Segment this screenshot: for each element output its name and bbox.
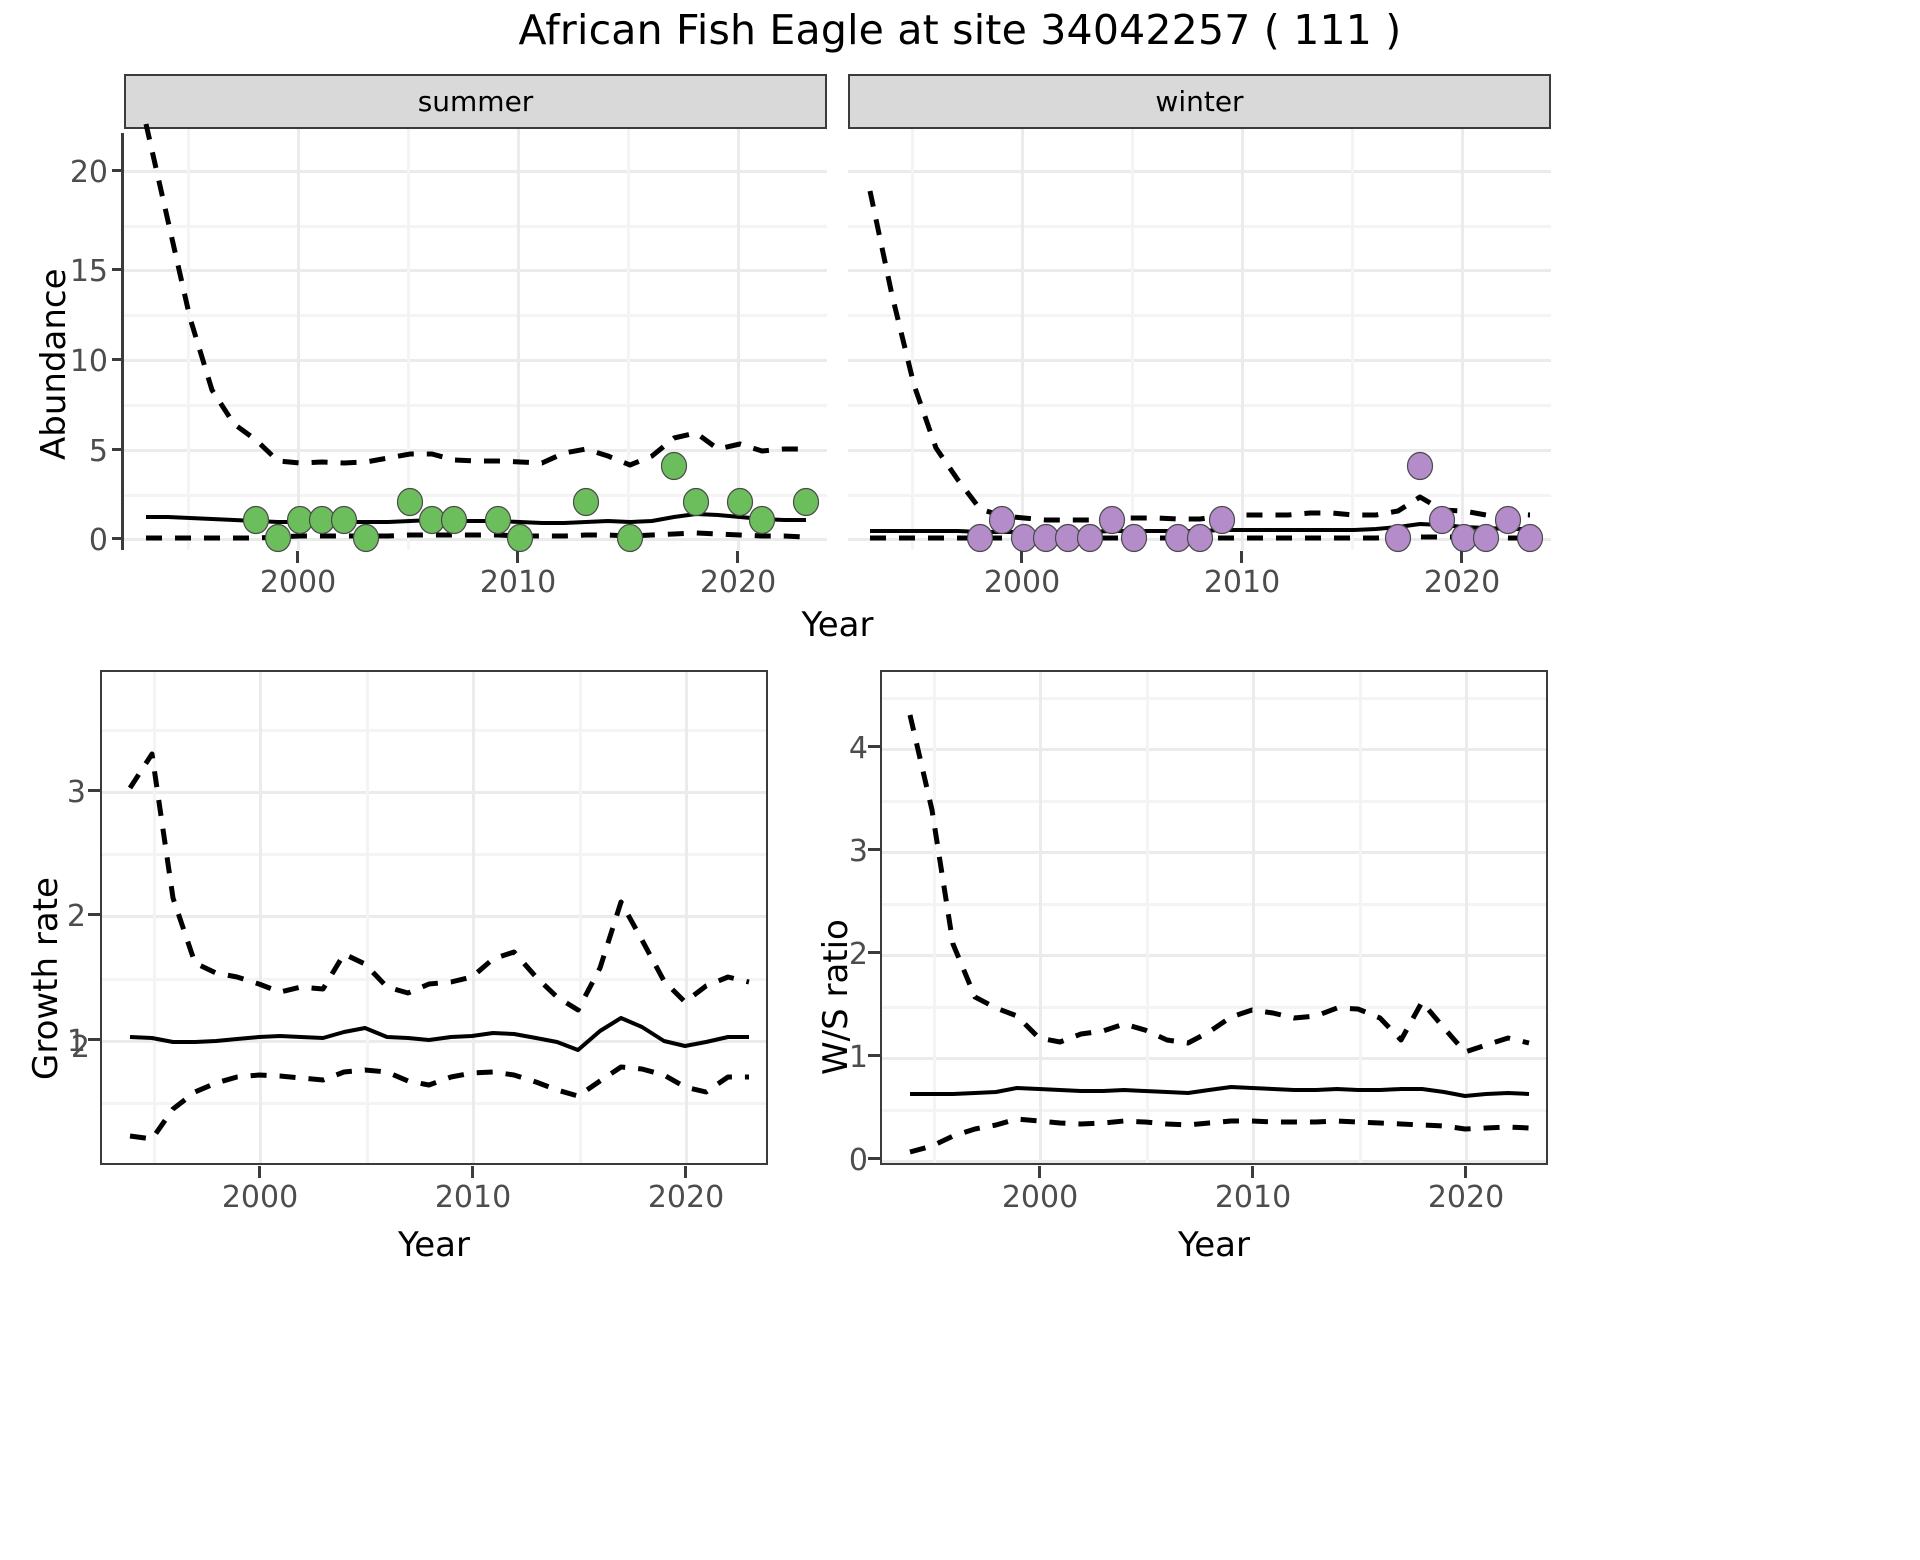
growth-rate-y-tickmark	[88, 1038, 100, 1041]
abundance-panel-winter	[848, 129, 1551, 550]
growth-rate-x-tickmark	[258, 1166, 261, 1178]
ws-ratio-y-tickmark	[868, 848, 880, 851]
abundance-x-tickmark	[1240, 551, 1243, 563]
growth-upper-ci	[130, 754, 749, 1010]
figure-title: African Fish Eagle at site 34042257 ( 11…	[0, 6, 1920, 54]
abundance-x-tick-2010-winter: 2010	[1180, 565, 1304, 600]
growth-rate-plot	[102, 672, 766, 1163]
growth-lower-ci	[130, 1067, 749, 1139]
abundance-y-tick-5: 5	[52, 434, 108, 469]
ratio-lower-ci	[910, 1119, 1529, 1152]
ws-ratio-y-tick-2: 2	[812, 937, 868, 972]
abundance-x-tick-2020-summer: 2020	[676, 565, 800, 600]
ws-ratio-x-tick-2020: 2020	[1404, 1180, 1528, 1215]
growth-rate-y-tick-1: 1	[30, 1024, 86, 1059]
ws-ratio-x-tick-2000: 2000	[978, 1180, 1102, 1215]
ws-ratio-y-tickmark	[868, 951, 880, 954]
abundance-x-axis-title: Year	[124, 605, 1551, 645]
ws-ratio-y-tickmark	[868, 1157, 880, 1160]
summer-upper-ci	[146, 124, 806, 465]
ws-ratio-plot	[882, 672, 1546, 1163]
ws-ratio-y-tick-0: 0	[812, 1143, 868, 1178]
abundance-x-tickmark	[1020, 551, 1023, 563]
ws-ratio-y-tick-3: 3	[812, 834, 868, 869]
facet-strip-summer: summer	[124, 74, 827, 129]
growth-rate-x-tick-2020: 2020	[624, 1180, 748, 1215]
abundance-panel-summer	[124, 129, 827, 550]
growth-rate-x-tickmark	[684, 1166, 687, 1178]
growth-rate-panel	[100, 670, 768, 1165]
growth-rate-y-tickmark	[88, 789, 100, 792]
ws-ratio-y-tick-4: 4	[812, 731, 868, 766]
ws-ratio-y-tickmark	[868, 1054, 880, 1057]
abundance-x-tickmark	[1460, 551, 1463, 563]
growth-rate-y-tickmark	[88, 913, 100, 916]
growth-rate-x-tick-2000: 2000	[198, 1180, 322, 1215]
growth-rate-x-tickmark	[471, 1166, 474, 1178]
abundance-y-tick-10: 10	[52, 344, 108, 379]
figure-root: African Fish Eagle at site 34042257 ( 11…	[0, 0, 1920, 1560]
abundance-y-tick-15: 15	[52, 254, 108, 289]
ws-ratio-y-tickmark	[868, 745, 880, 748]
abundance-winter-plot	[848, 129, 1551, 550]
abundance-x-tick-2010-summer: 2010	[456, 565, 580, 600]
abundance-summer-plot	[124, 129, 827, 550]
abundance-x-tickmark	[516, 551, 519, 563]
abundance-x-tick-2000-winter: 2000	[960, 565, 1084, 600]
facet-strip-winter: winter	[848, 74, 1551, 129]
ratio-median	[910, 1087, 1529, 1096]
facet-strip-winter-label: winter	[1155, 85, 1243, 118]
ws-ratio-panel	[880, 670, 1548, 1165]
ws-ratio-x-axis-title: Year	[880, 1225, 1548, 1265]
abundance-x-tickmark	[296, 551, 299, 563]
facet-strip-summer-label: summer	[418, 85, 534, 118]
abundance-x-tick-2020-winter: 2020	[1400, 565, 1524, 600]
ws-ratio-x-tickmark	[1251, 1166, 1254, 1178]
summer-lower-ci	[146, 533, 806, 538]
ws-ratio-x-tick-2010: 2010	[1191, 1180, 1315, 1215]
abundance-x-tick-2000-summer: 2000	[236, 565, 360, 600]
growth-median	[130, 1018, 749, 1050]
ws-ratio-x-tickmark	[1464, 1166, 1467, 1178]
ws-ratio-x-tickmark	[1038, 1166, 1041, 1178]
growth-rate-y-tick-3: 3	[30, 775, 86, 810]
growth-rate-x-tick-2010: 2010	[411, 1180, 535, 1215]
ratio-upper-ci	[910, 715, 1529, 1052]
growth-rate-x-axis-title: Year	[100, 1225, 768, 1265]
abundance-x-tickmark	[736, 551, 739, 563]
abundance-y-tick-20: 20	[52, 155, 108, 190]
ws-ratio-y-tick-1: 1	[812, 1040, 868, 1075]
abundance-y-tick-0: 0	[52, 523, 108, 558]
growth-rate-y-tick-2: 2	[30, 899, 86, 934]
